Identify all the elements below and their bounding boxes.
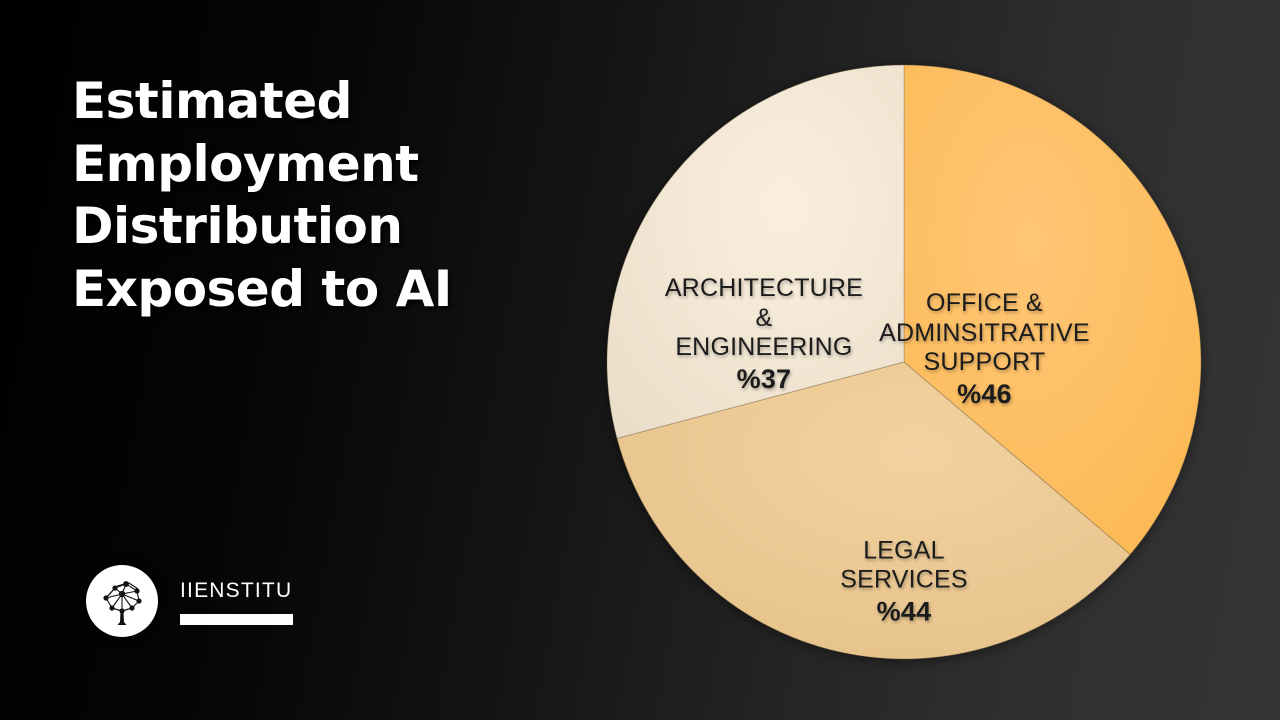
title-block: Estimated Employment Distribution Expose… (72, 70, 542, 320)
brand-rule (180, 614, 293, 625)
pie-chart: OFFICE & ADMINSITRATIVE SUPPORT %46 LEGA… (606, 64, 1202, 660)
network-tree-icon (86, 565, 158, 637)
brand-text: IIENSTITU (180, 578, 293, 625)
page-title: Estimated Employment Distribution Expose… (72, 70, 542, 320)
slide-canvas: Estimated Employment Distribution Expose… (0, 0, 1280, 720)
pie-chart-svg (606, 64, 1202, 660)
brand-lockup: IIENSTITU (86, 565, 293, 637)
brand-name: IIENSTITU (180, 580, 292, 601)
